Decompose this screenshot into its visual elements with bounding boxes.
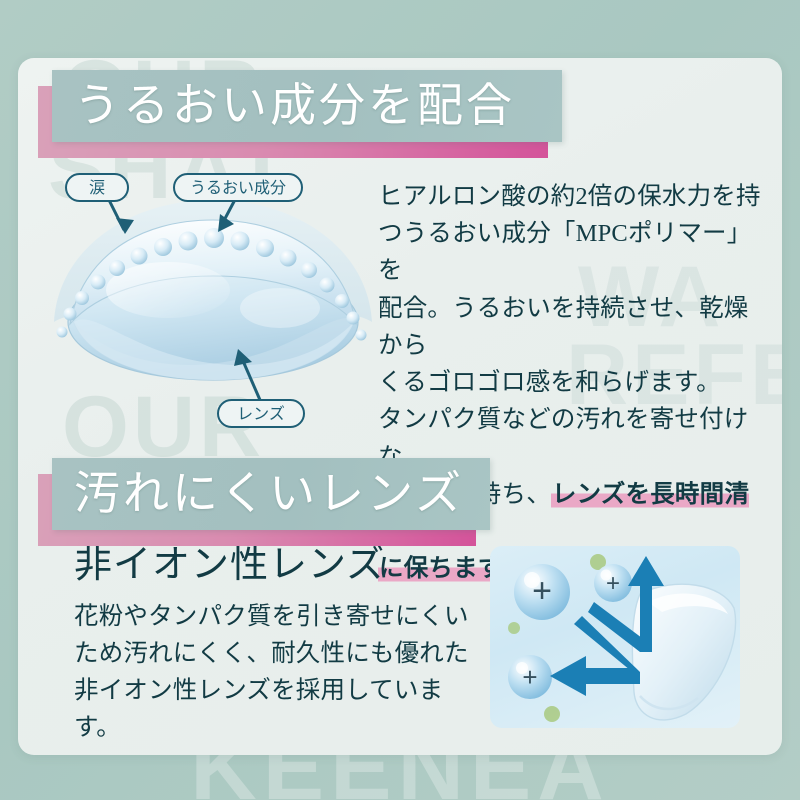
particle-dot-2 xyxy=(508,622,520,634)
ion-symbol-3: + xyxy=(522,662,537,692)
stain-line-1: 花粉やタンパク質を引き寄せにくい xyxy=(74,598,484,635)
banner-title-moisture: うるおい成分を配合 xyxy=(74,83,515,129)
section-heading-stain-resistant: 汚れにくいレンズ xyxy=(52,458,490,530)
callout-label-moisture: うるおい成分 xyxy=(190,179,286,197)
ion-sphere-large: + xyxy=(514,564,570,620)
non-ionic-diagram-svg: + + + xyxy=(490,546,740,728)
banner-teal-plate: うるおい成分を配合 xyxy=(52,70,562,142)
callout-moisture: うるおい成分 xyxy=(174,174,302,201)
moisture-line-4: くるゴロゴロ感を和らげます。 xyxy=(378,364,762,401)
callout-label-tear: 涙 xyxy=(89,179,105,197)
stain-resistant-text-block: 非イオン性レンズ 花粉やタンパク質を引き寄せにくい ため汚れにくく、耐久性にも優… xyxy=(74,544,484,747)
particle-dot-3 xyxy=(544,706,560,722)
section-body-moisture: 涙 うるおい成分 レンズ ヒアルロン酸の約2倍の保水力を持 つうるおい成分「MP… xyxy=(18,170,782,450)
banner-teal-plate-2: 汚れにくいレンズ xyxy=(52,458,490,530)
lens-sheen-secondary xyxy=(240,288,320,328)
ion-symbol-2: + xyxy=(606,570,620,597)
stain-line-2: ため汚れにくく、耐久性にも優れた xyxy=(74,635,484,672)
callout-tear: 涙 xyxy=(66,174,128,201)
moisture-line-2: つうるおい成分「MPCポリマー」を xyxy=(378,215,762,289)
ion-sphere-small-top: + xyxy=(594,564,632,602)
section-heading-moisture: うるおい成分を配合 xyxy=(52,70,562,142)
ion-symbol-1: + xyxy=(532,572,552,610)
lens-moisture-diagram: 涙 うるおい成分 レンズ xyxy=(48,172,378,432)
banner-title-stain-resistant: 汚れにくいレンズ xyxy=(74,471,464,517)
non-ionic-lens-diagram: + + + xyxy=(490,546,740,728)
content-card: OUR SHAT OUR SHAT WA REFE うるおい成分を配合 xyxy=(18,58,782,755)
stain-line-3: 非イオン性レンズを採用しています。 xyxy=(74,672,484,746)
stain-resistant-subtitle: 非イオン性レンズ xyxy=(74,544,484,588)
callout-lens: レンズ xyxy=(218,400,304,427)
moisture-line-3: 配合。うるおいを持続させ、乾燥から xyxy=(378,290,762,364)
moisture-line-1: ヒアルロン酸の約2倍の保水力を持 xyxy=(378,178,762,215)
stain-resistant-paragraph: 花粉やタンパク質を引き寄せにくい ため汚れにくく、耐久性にも優れた 非イオン性レ… xyxy=(74,598,484,747)
callout-label-lens: レンズ xyxy=(237,405,285,423)
section-body-stain-resistant: 非イオン性レンズ 花粉やタンパク質を引き寄せにくい ため汚れにくく、耐久性にも優… xyxy=(18,544,782,754)
ion-sphere-small-bottom: + xyxy=(508,655,552,699)
lens-diagram-svg: 涙 うるおい成分 レンズ xyxy=(48,172,378,432)
